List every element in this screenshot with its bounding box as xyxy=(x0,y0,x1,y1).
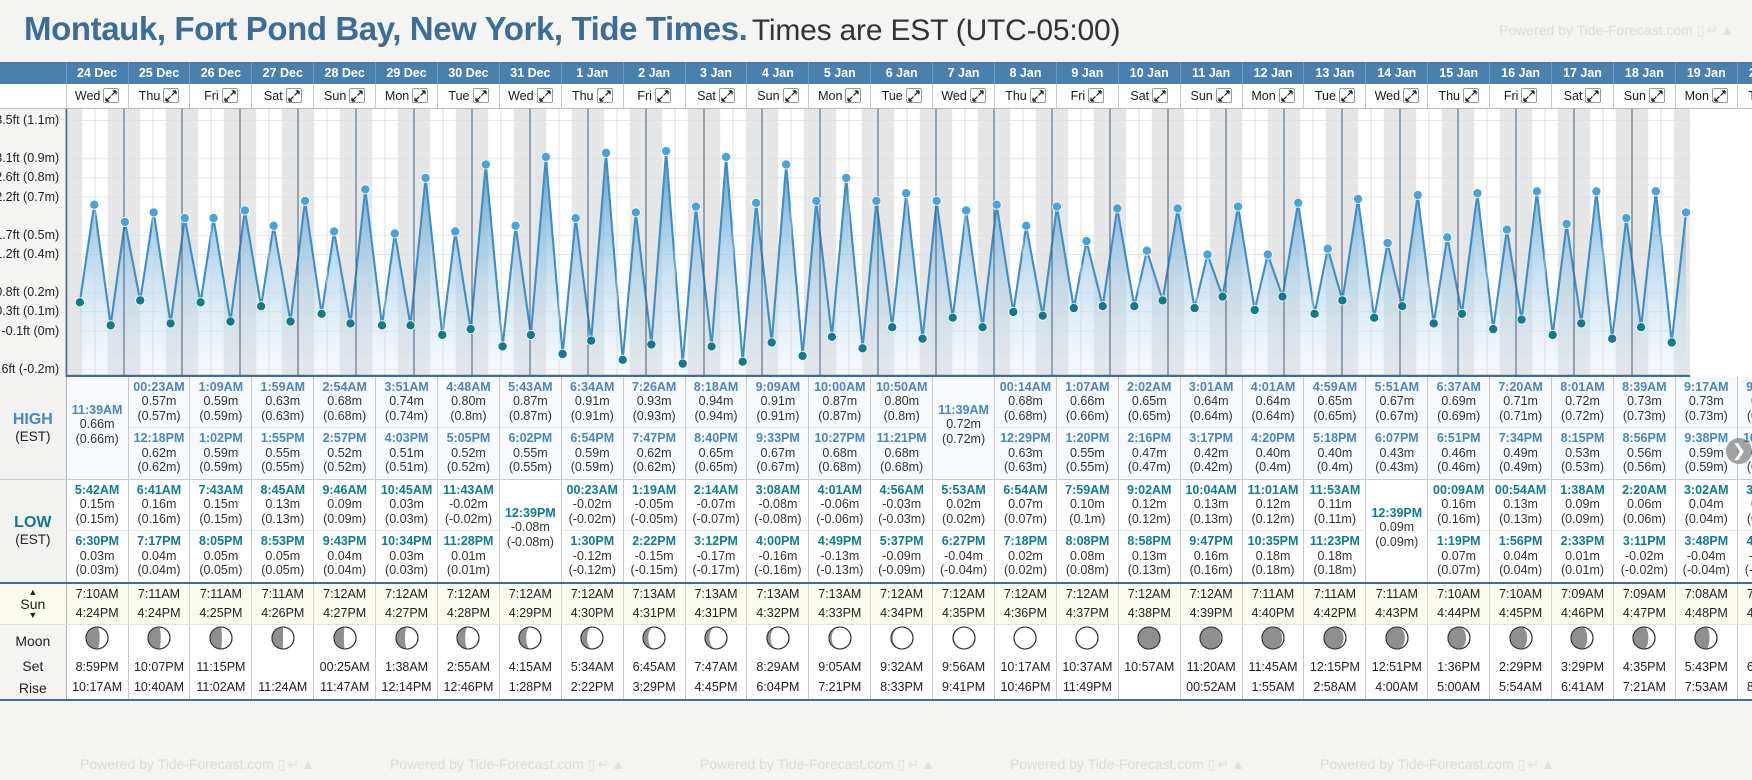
high-tide-cell-24: 8:01AM0.72m(0.72m)8:15PM0.53m(0.53m) xyxy=(1552,377,1614,480)
high-tide-height: 0.93m xyxy=(624,394,685,409)
tide-curve-svg xyxy=(66,109,1690,377)
sun-cell-1: 7:11AM4:24PM xyxy=(128,583,190,625)
moonset-time: 9:56AM xyxy=(933,658,994,677)
moonrise-time: 2:58AM xyxy=(1304,678,1365,697)
high-tide-time: 8:40PM xyxy=(686,431,747,446)
high-tide-event: 4:59AM0.65m(0.65m) xyxy=(1304,377,1365,428)
powered-by-watermark-2: Powered by Tide-Forecast.com ▯↵▲ xyxy=(700,756,937,773)
weekday-cell-10: Sat xyxy=(685,84,747,108)
sunset-time: 4:44PM xyxy=(1428,604,1489,623)
moonrise-time: 11:02AM xyxy=(190,678,251,697)
expand-icon[interactable] xyxy=(1585,88,1601,103)
sun-cell-7: 7:12AM4:29PM xyxy=(499,583,561,625)
high-tide-height: 0.47m xyxy=(1119,446,1180,461)
expand-icon[interactable] xyxy=(1712,88,1728,103)
moonrise-time: 5:00AM xyxy=(1428,678,1489,697)
high-tide-height: 0.87m xyxy=(500,394,561,409)
expand-icon[interactable] xyxy=(719,88,735,103)
weekday-label: Tue xyxy=(448,89,469,103)
moonrise-label: Rise xyxy=(0,678,66,700)
high-label-unit: (EST) xyxy=(0,429,66,444)
low-tide-event: 00:23AM-0.02m(-0.02m) xyxy=(562,480,623,531)
high-tide-time: 6:34AM xyxy=(562,380,623,395)
low-tide-time: 2:20AM xyxy=(1614,483,1675,498)
moon-setrise-cell-9: 6:45AM3:29PM xyxy=(623,656,685,700)
high-tide-time: 1:20PM xyxy=(1057,431,1118,446)
powered-by-watermark-header: Powered by Tide-Forecast.com ▯↵▲ xyxy=(1499,22,1736,39)
sun-cell-11: 7:13AM4:32PM xyxy=(747,583,809,625)
moon-phase-icon-10 xyxy=(685,625,747,657)
low-tide-height: 0.05m xyxy=(252,549,313,564)
low-tide-cell-24: 1:38AM0.09m(0.09m)2:33PM0.01m(0.01m) xyxy=(1552,479,1614,583)
low-tide-height-alt: (0.07m) xyxy=(1428,563,1489,578)
low-tide-height: -0.07m xyxy=(686,497,747,512)
weekday-label: Thu xyxy=(572,89,594,103)
moon-setrise-cell-25: 4:35PM7:21AM xyxy=(1613,656,1675,700)
high-tide-cell-18: 3:01AM0.64m(0.64m)3:17PM0.42m(0.42m) xyxy=(1180,377,1242,480)
low-tide-time: 6:54AM xyxy=(995,483,1056,498)
expand-icon[interactable] xyxy=(1403,88,1419,103)
sunrise-time: 7:11AM xyxy=(190,585,251,604)
low-tide-height: -0.13m xyxy=(809,549,870,564)
sun-cell-22: 7:10AM4:44PM xyxy=(1428,583,1490,625)
sunrise-time: 7:12AM xyxy=(871,585,932,604)
high-tide-height: 0.87m xyxy=(809,394,870,409)
high-tide-event: 5:51AM0.67m(0.67m) xyxy=(1366,377,1427,428)
high-tide-height-alt: (0.55m) xyxy=(252,460,313,475)
moonrise-time: 1:55AM xyxy=(1243,678,1304,697)
high-tide-time: 7:20AM xyxy=(1490,380,1551,395)
low-tide-height-alt: (0.11m) xyxy=(1304,512,1365,527)
scroll-right-button[interactable]: ❯ xyxy=(1726,438,1752,464)
low-tide-cell-22: 00:09AM0.16m(0.16m)1:19PM0.07m(0.07m) xyxy=(1428,479,1490,583)
high-tide-event: 00:14AM0.68m(0.68m) xyxy=(995,377,1056,428)
low-tide-height-alt: (0.05m) xyxy=(252,563,313,578)
sun-cell-26: 7:08AM4:48PM xyxy=(1675,583,1737,625)
expand-icon[interactable] xyxy=(1088,88,1104,103)
sunrise-time: 7:10AM xyxy=(67,585,128,604)
low-tide-height-alt: (0.13m) xyxy=(252,512,313,527)
low-tide-cell-2: 7:43AM0.15m(0.15m)8:05PM0.05m(0.05m) xyxy=(190,479,252,583)
moon-setrise-cell-6: 2:55AM12:46PM xyxy=(438,656,500,700)
high-tide-height: 0.72m xyxy=(1552,394,1613,409)
low-tide-cell-23: 00:54AM0.13m(0.13m)1:56PM0.04m(0.04m) xyxy=(1490,479,1552,583)
expand-icon[interactable] xyxy=(1152,88,1168,103)
low-tide-height: 0.02m xyxy=(1738,497,1752,512)
low-tide-time: 1:30PM xyxy=(562,534,623,549)
high-tide-height: 0.62m xyxy=(624,446,685,461)
low-tide-time: 1:19PM xyxy=(1428,534,1489,549)
expand-icon[interactable] xyxy=(845,88,861,103)
moonset-time: 9:05AM xyxy=(809,658,870,677)
high-tide-cell-10: 8:18AM0.94m(0.94m)8:40PM0.65m(0.65m) xyxy=(685,377,747,480)
page-title: Montauk, Fort Pond Bay, New York, Tide T… xyxy=(24,10,747,47)
moon-phase-icon-3 xyxy=(252,625,314,657)
high-tide-time: 4:48AM xyxy=(438,380,499,395)
low-tide-event: 3:02AM0.04m(0.04m) xyxy=(1676,480,1737,531)
high-tide-height-alt: (0.68m) xyxy=(995,409,1056,424)
low-tide-height: -0.04m xyxy=(933,549,994,564)
low-tide-event: 2:14AM-0.07m(-0.07m) xyxy=(686,480,747,531)
expand-icon[interactable] xyxy=(597,88,613,103)
high-tide-event: 11:21PM0.68m(0.68m) xyxy=(871,427,932,479)
high-tide-time: 2:16PM xyxy=(1119,431,1180,446)
sunrise-time: 7:11AM xyxy=(1304,585,1365,604)
low-tide-event: 00:09AM0.16m(0.16m) xyxy=(1428,480,1489,531)
low-tide-time: 9:46AM xyxy=(314,483,375,498)
low-tide-height: 0.02m xyxy=(933,497,994,512)
weekday-label: Thu xyxy=(1438,89,1460,103)
high-tide-time: 8:15PM xyxy=(1552,431,1613,446)
low-tide-height: 0.13m xyxy=(252,497,313,512)
date-header-16: 9 Jan xyxy=(1056,62,1118,84)
high-tide-event: 5:05PM0.52m(0.52m) xyxy=(438,427,499,479)
moon-setrise-cell-17: 10:57AM xyxy=(1118,656,1180,700)
low-tide-time: 8:08PM xyxy=(1057,534,1118,549)
high-tide-height: 0.55m xyxy=(1057,446,1118,461)
sunset-time: 4:24PM xyxy=(129,604,190,623)
expand-icon[interactable] xyxy=(783,88,799,103)
weekday-cell-15: Thu xyxy=(995,84,1057,108)
high-tide-height-alt: (0.51m) xyxy=(376,460,437,475)
low-tide-height: -0.16m xyxy=(747,549,808,564)
expand-icon[interactable] xyxy=(537,88,553,103)
date-header-7: 31 Dec xyxy=(499,62,561,84)
sunrise-time: 7:09AM xyxy=(1614,585,1675,604)
expand-icon[interactable] xyxy=(1216,88,1232,103)
low-tide-event: 10:35PM0.18m(0.18m) xyxy=(1243,530,1304,582)
low-tide-height: 0.04m xyxy=(1490,549,1551,564)
high-tide-height: 0.59m xyxy=(562,446,623,461)
moonrise-time: 10:40AM xyxy=(129,678,190,697)
moonset-time: 11:20AM xyxy=(1181,658,1242,677)
low-tide-time: 1:19AM xyxy=(624,483,685,498)
expand-icon[interactable] xyxy=(473,88,489,103)
high-tide-cell-5: 3:51AM0.74m(0.74m)4:03PM0.51m(0.51m) xyxy=(376,377,438,480)
weekday-label: Wed xyxy=(1375,89,1400,103)
weekday-label: Sat xyxy=(264,89,283,103)
high-tide-time: 5:05PM xyxy=(438,431,499,446)
date-header-13: 6 Jan xyxy=(871,62,933,84)
low-tide-time: 9:47PM xyxy=(1181,534,1242,549)
high-tide-height: 0.64m xyxy=(1181,394,1242,409)
moonset-time: 5:43PM xyxy=(1676,658,1737,677)
sunset-time: 4:46PM xyxy=(1552,604,1613,623)
low-tide-height-alt: (0.01m) xyxy=(438,563,499,578)
low-tide-event: 2:33PM0.01m(0.01m) xyxy=(1552,530,1613,582)
date-header-6: 30 Dec xyxy=(438,62,500,84)
date-header-14: 7 Jan xyxy=(933,62,995,84)
low-tide-event: 3:48PM-0.04m(-0.04m) xyxy=(1676,530,1737,582)
low-tide-event: 7:17PM0.04m(0.04m) xyxy=(129,530,190,582)
low-tide-event: 11:43AM-0.02m(-0.02m) xyxy=(438,480,499,531)
low-tide-height-alt: (-0.08m) xyxy=(500,535,561,550)
low-tide-time: 3:48PM xyxy=(1676,534,1737,549)
powered-by-text: Powered by Tide-Forecast.com xyxy=(700,756,894,772)
high-tide-height: 0.53m xyxy=(1552,446,1613,461)
low-tide-height: 0.11m xyxy=(1304,497,1365,512)
weekday-label: Sat xyxy=(1130,89,1149,103)
expand-icon[interactable] xyxy=(1649,88,1665,103)
low-tide-event: 7:59AM0.10m(0.1m) xyxy=(1057,480,1118,531)
low-tide-time: 8:53PM xyxy=(252,534,313,549)
expand-icon[interactable] xyxy=(349,88,365,103)
low-tide-time: 1:56PM xyxy=(1490,534,1551,549)
sun-cell-17: 7:12AM4:38PM xyxy=(1118,583,1180,625)
sun-cell-21: 7:11AM4:43PM xyxy=(1366,583,1428,625)
sunrise-time: 7:12AM xyxy=(314,585,375,604)
expand-icon[interactable] xyxy=(970,88,986,103)
low-tide-event: 3:08AM-0.08m(-0.08m) xyxy=(747,480,808,531)
high-tide-cell-22: 6:37AM0.69m(0.69m)6:51PM0.46m(0.46m) xyxy=(1428,377,1490,480)
powered-by-watermark-1: Powered by Tide-Forecast.com ▯↵▲ xyxy=(390,756,627,773)
low-tide-time: 11:28PM xyxy=(438,534,499,549)
high-tide-time: 7:26AM xyxy=(624,380,685,395)
moonrise-time: 7:53AM xyxy=(1676,678,1737,697)
high-tide-height: 0.74m xyxy=(376,394,437,409)
high-tide-cell-4: 2:54AM0.68m(0.68m)2:57PM0.52m(0.52m) xyxy=(314,377,376,480)
low-tide-height: -0.04m xyxy=(1676,549,1737,564)
low-tide-height: 0.10m xyxy=(1057,497,1118,512)
low-tide-event: 3:12PM-0.17m(-0.17m) xyxy=(686,530,747,582)
high-tide-height-alt: (0.8m) xyxy=(871,409,932,424)
low-tide-height-alt: (0.15m) xyxy=(67,512,128,527)
page-footer: Powered by Tide-Forecast.com ▯↵▲Powered … xyxy=(0,752,1752,780)
moon-setrise-cell-16: 10:37AM11:49PM xyxy=(1056,656,1118,700)
sunrise-arrow-icon: ▲ xyxy=(0,589,66,596)
weekday-cell-5: Mon xyxy=(376,84,438,108)
high-tide-time: 8:39AM xyxy=(1614,380,1675,395)
low-tide-event: 10:45AM0.03m(0.03m) xyxy=(376,480,437,531)
watermark-icons: ▯↵▲ xyxy=(1208,756,1247,772)
moonrise-time: 5:54AM xyxy=(1490,678,1551,697)
low-tide-height-alt: (0.02m) xyxy=(1738,512,1752,527)
expand-icon[interactable] xyxy=(906,88,922,103)
expand-icon[interactable] xyxy=(103,88,119,103)
expand-icon[interactable] xyxy=(1279,88,1295,103)
low-tide-time: 7:43AM xyxy=(190,483,251,498)
moon-phase-icon-23 xyxy=(1490,625,1552,657)
high-tide-height: 0.52m xyxy=(438,446,499,461)
moon-phase-icon-21 xyxy=(1366,625,1428,657)
high-tide-height: 0.68m xyxy=(871,446,932,461)
sunset-arrow-icon: ▼ xyxy=(0,612,66,619)
expand-icon[interactable] xyxy=(163,88,179,103)
sun-label: ▲ Sun ▼ xyxy=(0,583,66,625)
sunset-time: 4:42PM xyxy=(1304,604,1365,623)
date-header-23: 16 Jan xyxy=(1490,62,1552,84)
weekday-cell-0: Wed xyxy=(66,84,128,108)
low-tide-height: 0.16m xyxy=(1428,497,1489,512)
weekday-cell-6: Tue xyxy=(438,84,500,108)
high-tide-height-alt: (0.47m) xyxy=(1119,460,1180,475)
low-tide-height-alt: (0.04m) xyxy=(1490,563,1551,578)
low-tide-height: -0.08m xyxy=(500,520,561,535)
high-tide-height: 0.59m xyxy=(190,446,251,461)
expand-icon[interactable] xyxy=(1030,88,1046,103)
high-tide-event: 7:26AM0.93m(0.93m) xyxy=(624,377,685,428)
weekday-cell-27: Tue xyxy=(1737,84,1752,108)
expand-icon[interactable] xyxy=(286,88,302,103)
weekday-cell-4: Sun xyxy=(314,84,376,108)
date-header-2: 26 Dec xyxy=(190,62,252,84)
high-tide-time: 3:51AM xyxy=(376,380,437,395)
sunset-time: 4:31PM xyxy=(624,604,685,623)
weekday-label: Fri xyxy=(637,89,652,103)
low-tide-event: 8:58PM0.13m(0.13m) xyxy=(1119,530,1180,582)
high-tide-event: 4:03PM0.51m(0.51m) xyxy=(376,427,437,479)
low-tide-height: 0.04m xyxy=(314,549,375,564)
expand-icon[interactable] xyxy=(1339,88,1355,103)
high-tide-event: 6:51PM0.46m(0.46m) xyxy=(1428,427,1489,479)
weekday-label: Tue xyxy=(882,89,903,103)
date-header-18: 11 Jan xyxy=(1180,62,1242,84)
low-tide-event: 11:53AM0.11m(0.11m) xyxy=(1304,480,1365,531)
low-tide-cell-27: 3:45AM0.02m(0.02m)4:25PM-0.06m(-0.06m) xyxy=(1737,479,1752,583)
moon-phase-icon-24 xyxy=(1552,625,1614,657)
date-header-25: 18 Jan xyxy=(1613,62,1675,84)
weekday-cell-25: Sun xyxy=(1613,84,1675,108)
moon-setrise-row: Set Rise 8:59PM10:17AM10:07PM10:40AM11:1… xyxy=(0,656,1752,700)
low-tide-time: 9:43PM xyxy=(314,534,375,549)
high-tide-event: 4:48AM0.80m(0.8m) xyxy=(438,377,499,428)
low-tide-height-alt: (-0.15m) xyxy=(624,563,685,578)
expand-icon[interactable] xyxy=(1521,88,1537,103)
moon-phase-icon-13 xyxy=(871,625,933,657)
low-tide-event: 6:27PM-0.04m(-0.04m) xyxy=(933,530,994,582)
low-label-text: LOW xyxy=(0,514,66,532)
low-tide-height: -0.03m xyxy=(871,497,932,512)
high-tide-event: 11:39AM0.72m(0.72m) xyxy=(933,377,994,451)
weekday-label: Tue xyxy=(1315,89,1336,103)
y-axis-tick-3: 2.2ft (0.7m) xyxy=(0,190,59,204)
low-tide-height: 0.13m xyxy=(1490,497,1551,512)
moon-setrise-cell-0: 8:59PM10:17AM xyxy=(66,656,128,700)
moon-setrise-cell-3: 11:24AM xyxy=(252,656,314,700)
moon-setrise-cell-1: 10:07PM10:40AM xyxy=(128,656,190,700)
weekday-label: Sun xyxy=(1624,89,1646,103)
low-tide-height: -0.02m xyxy=(438,497,499,512)
high-tide-event: 8:01AM0.72m(0.72m) xyxy=(1552,377,1613,428)
high-tide-cell-21: 5:51AM0.67m(0.67m)6:07PM0.43m(0.43m) xyxy=(1366,377,1428,480)
date-header-5: 29 Dec xyxy=(376,62,438,84)
moon-phase-icon-11 xyxy=(747,625,809,657)
low-tide-time: 3:08AM xyxy=(747,483,808,498)
sunset-time: 4:26PM xyxy=(252,604,313,623)
date-header-11: 4 Jan xyxy=(747,62,809,84)
low-tide-event: 9:47PM0.16m(0.16m) xyxy=(1181,530,1242,582)
weekday-cell-23: Fri xyxy=(1490,84,1552,108)
low-tide-height-alt: (0.16m) xyxy=(1428,512,1489,527)
high-tide-height: 0.56m xyxy=(1614,446,1675,461)
low-tide-cell-9: 1:19AM-0.05m(-0.05m)2:22PM-0.15m(-0.15m) xyxy=(623,479,685,583)
low-tide-event: 10:34PM0.03m(0.03m) xyxy=(376,530,437,582)
high-tide-height: 0.80m xyxy=(871,394,932,409)
moonrise-time: 4:45PM xyxy=(686,678,747,697)
low-tide-height-alt: (0.16m) xyxy=(129,512,190,527)
moon-phase-icon-12 xyxy=(809,625,871,657)
low-tide-time: 10:45AM xyxy=(376,483,437,498)
moon-setrise-cell-19: 11:45AM1:55AM xyxy=(1242,656,1304,700)
high-tide-event: 1:20PM0.55m(0.55m) xyxy=(1057,427,1118,479)
moon-phase-icon-2 xyxy=(190,625,252,657)
high-tide-height: 0.91m xyxy=(562,394,623,409)
sun-cell-5: 7:12AM4:27PM xyxy=(376,583,438,625)
sun-row: ▲ Sun ▼ 7:10AM4:24PM7:11AM4:24PM7:11AM4:… xyxy=(0,583,1752,625)
low-tide-height: 0.12m xyxy=(1119,497,1180,512)
low-tide-cell-25: 2:20AM0.06m(0.06m)3:11PM-0.02m(-0.02m) xyxy=(1613,479,1675,583)
expand-icon[interactable] xyxy=(412,88,428,103)
low-tide-height: 0.09m xyxy=(1366,520,1427,535)
expand-icon[interactable] xyxy=(1463,88,1479,103)
high-tide-event: 3:17PM0.42m(0.42m) xyxy=(1181,427,1242,479)
moon-setrise-cell-26: 5:43PM7:53AM xyxy=(1675,656,1737,700)
low-tide-height: -0.06m xyxy=(809,497,870,512)
sunrise-time: 7:13AM xyxy=(624,585,685,604)
high-tide-height: 0.49m xyxy=(1490,446,1551,461)
high-tide-height: 0.68m xyxy=(314,394,375,409)
low-tide-time: 11:43AM xyxy=(438,483,499,498)
high-tide-height-alt: (0.65m) xyxy=(1304,409,1365,424)
high-tide-height-alt: (0.56m) xyxy=(1614,460,1675,475)
moon-phase-icon-22 xyxy=(1428,625,1490,657)
weekday-label: Wed xyxy=(941,89,966,103)
low-tide-cell-14: 5:53AM0.02m(0.02m)6:27PM-0.04m(-0.04m) xyxy=(933,479,995,583)
low-tide-event: 3:11PM-0.02m(-0.02m) xyxy=(1614,530,1675,582)
high-tide-event: 2:57PM0.52m(0.52m) xyxy=(314,427,375,479)
high-tide-cell-11: 9:09AM0.91m(0.91m)9:33PM0.67m(0.67m) xyxy=(747,377,809,480)
high-tide-event: 7:34PM0.49m(0.49m) xyxy=(1490,427,1551,479)
high-tide-time: 12:18PM xyxy=(129,431,190,446)
high-tide-event: 2:54AM0.68m(0.68m) xyxy=(314,377,375,428)
expand-icon[interactable] xyxy=(655,88,671,103)
high-tide-height-alt: (0.59m) xyxy=(190,460,251,475)
moon-setrise-cell-27: 6:51PM8:22AM xyxy=(1737,656,1752,700)
low-tide-height-alt: (0.09m) xyxy=(1366,535,1427,550)
sunset-time: 4:43PM xyxy=(1366,604,1427,623)
moonset-time: 10:37AM xyxy=(1057,658,1118,677)
weekday-label: Mon xyxy=(818,89,842,103)
low-tide-event: 5:37PM-0.09m(-0.09m) xyxy=(871,530,932,582)
moon-setrise-cell-21: 12:51PM4:00AM xyxy=(1366,656,1428,700)
high-tide-cell-26: 9:17AM0.73m(0.73m)9:38PM0.59m(0.59m) xyxy=(1675,377,1737,480)
low-tide-height: 0.18m xyxy=(1304,549,1365,564)
y-axis-tick-4: 1.7ft (0.5m) xyxy=(0,228,59,242)
high-tide-height: 0.65m xyxy=(686,446,747,461)
watermark-icons: ▯↵▲ xyxy=(1697,22,1736,38)
low-tide-time: 8:58PM xyxy=(1119,534,1180,549)
expand-icon[interactable] xyxy=(222,88,238,103)
low-tide-height-alt: (0.18m) xyxy=(1304,563,1365,578)
low-tide-height-alt: (-0.06m) xyxy=(809,512,870,527)
watermark-icons: ▯↵▲ xyxy=(898,756,937,772)
high-tide-event: 1:07AM0.66m(0.66m) xyxy=(1057,377,1118,428)
low-tide-height-alt: (0.05m) xyxy=(190,563,251,578)
high-tide-height: 0.68m xyxy=(809,446,870,461)
high-tide-time: 8:56PM xyxy=(1614,431,1675,446)
moon-phase-icon-20 xyxy=(1304,625,1366,657)
powered-by-text: Powered by Tide-Forecast.com xyxy=(390,756,584,772)
low-tide-time: 3:12PM xyxy=(686,534,747,549)
sun-cell-2: 7:11AM4:25PM xyxy=(190,583,252,625)
low-tide-height-alt: (-0.17m) xyxy=(686,563,747,578)
powered-by-text: Powered by Tide-Forecast.com xyxy=(1320,756,1514,772)
sunset-time: 4:29PM xyxy=(500,604,561,623)
high-tide-time: 9:09AM xyxy=(747,380,808,395)
weekday-label: Thu xyxy=(1005,89,1027,103)
high-tide-height-alt: (0.73m) xyxy=(1676,409,1737,424)
sunrise-time: 7:12AM xyxy=(1181,585,1242,604)
